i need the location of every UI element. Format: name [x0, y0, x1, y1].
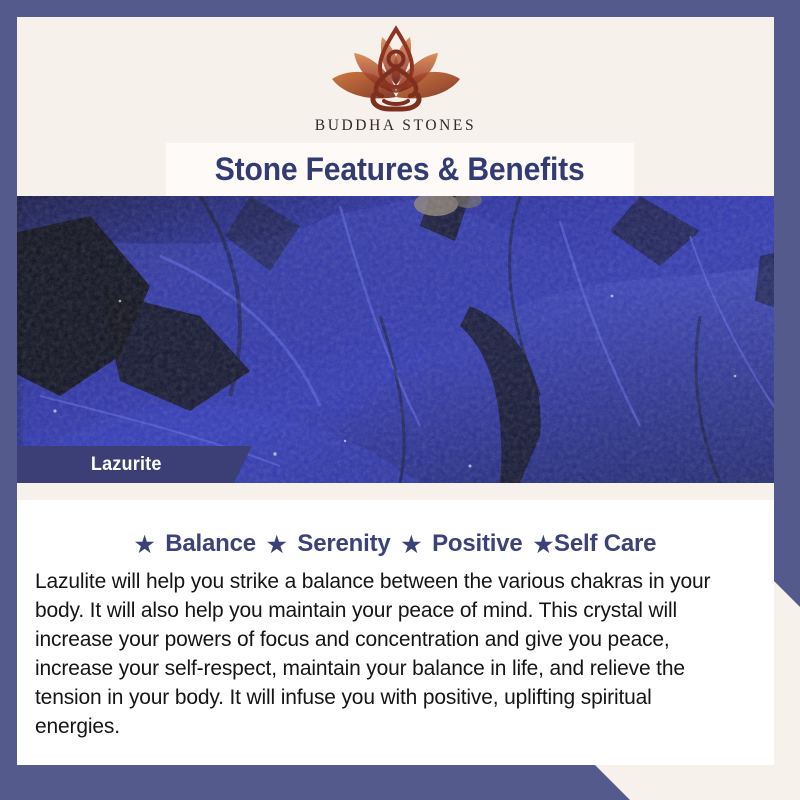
frame-right-band [774, 17, 800, 607]
poster-canvas: BUDDHA STONES Stone Features & Benefits [0, 0, 800, 800]
frame-top-band [0, 0, 800, 17]
frame-bottom-band [0, 765, 630, 800]
keyword-balance: Balance [165, 530, 256, 558]
keyword-positive: Positive [432, 530, 522, 558]
content-top-strip [17, 483, 774, 500]
brand-logo: BUDDHA STONES [17, 23, 774, 135]
star-icon: ★ [402, 534, 422, 556]
keyword-serenity: Serenity [297, 530, 390, 558]
brand-name: BUDDHA STONES [315, 117, 476, 135]
stone-photo-graphic [0, 196, 800, 483]
stone-description: Lazulite will help you strike a balance … [35, 567, 738, 741]
content-section: ★Balance★Serenity★Positive★Self Care Laz… [17, 500, 774, 765]
keyword-list: ★Balance★Serenity★Positive★Self Care [17, 530, 774, 558]
stone-name-banner: Lazurite [0, 446, 252, 483]
star-icon: ★ [135, 534, 155, 556]
page-title: Stone Features & Benefits [215, 151, 585, 188]
lotus-meditation-icon [312, 23, 480, 115]
keyword-self-care: Self Care [554, 530, 656, 558]
title-banner: Stone Features & Benefits [166, 143, 634, 196]
stone-photo [0, 196, 800, 483]
star-icon: ★ [534, 534, 554, 556]
stone-name: Lazurite [91, 454, 162, 476]
star-icon: ★ [267, 534, 287, 556]
frame-left-band [0, 17, 17, 800]
